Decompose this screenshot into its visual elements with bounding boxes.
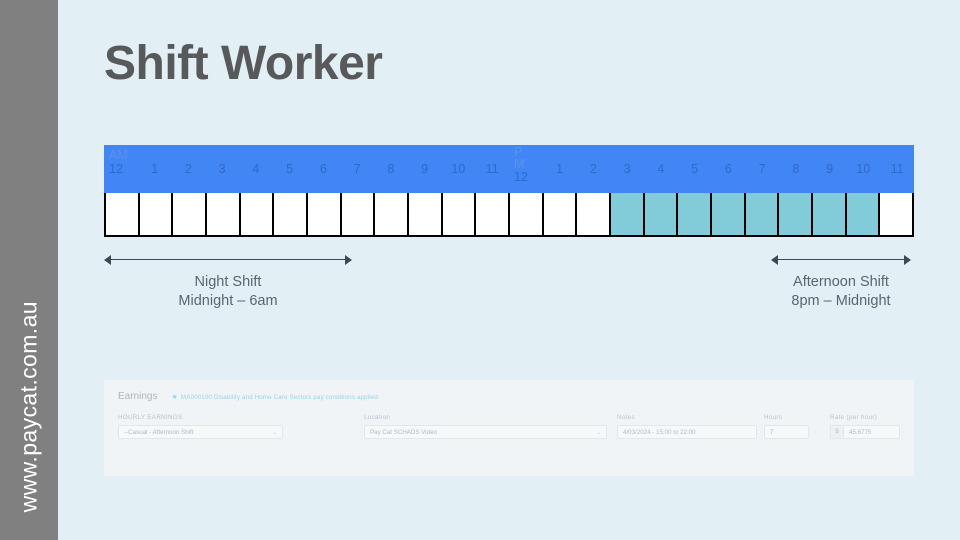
hour-cell-11: [476, 193, 510, 235]
hour-cell-21: [813, 193, 847, 235]
hour-cell-9: [409, 193, 443, 235]
field-hours: Hours 7: [764, 414, 809, 439]
location-label: Location: [364, 414, 607, 421]
hour-cell-14: [577, 193, 611, 235]
earnings-section-title: Earnings: [118, 391, 157, 402]
hour-label-15: 3: [610, 145, 644, 193]
hour-label-14: 2: [577, 145, 611, 193]
earnings-header: Earnings ★MA000100 Disability and Home C…: [118, 391, 378, 402]
hour-label-5: 5: [273, 145, 307, 193]
annotation-night-shift: Night Shift Midnight – 6am: [104, 255, 352, 311]
rate-value: 45.6775: [849, 429, 871, 436]
hour-number: 1: [543, 162, 577, 176]
currency-icon: $: [830, 425, 843, 439]
hours-label: Hours: [764, 414, 809, 421]
hour-number: 4: [644, 162, 678, 176]
hour-label-2: 2: [172, 145, 206, 193]
hour-cell-18: [712, 193, 746, 235]
hour-number: 5: [678, 162, 712, 176]
hours-value: 7: [770, 429, 773, 436]
hours-input[interactable]: 7: [764, 425, 809, 439]
field-rate: Rate (per hour) $ 45.6775: [830, 414, 900, 439]
slide-content: Shift Worker AM121234567891011P M1212345…: [58, 0, 960, 540]
afternoon-shift-title: Afternoon Shift: [771, 273, 911, 292]
hour-cell-19: [746, 193, 780, 235]
hour-cell-13: [544, 193, 578, 235]
hour-label-0: AM12: [104, 145, 138, 193]
hour-label-20: 8: [779, 145, 813, 193]
hour-label-7: 7: [340, 145, 374, 193]
hour-label-6: 6: [307, 145, 341, 193]
hour-number: 4: [239, 162, 273, 176]
arrow-head-right-icon: [345, 255, 352, 265]
hour-label-13: 1: [543, 145, 577, 193]
award-note: ★MA000100 Disability and Home Care Secto…: [171, 393, 377, 401]
hour-number: 11: [475, 162, 509, 176]
hour-cell-0: [106, 193, 140, 235]
page-title: Shift Worker: [104, 36, 382, 91]
hour-number: 3: [610, 162, 644, 176]
hour-cell-7: [342, 193, 376, 235]
star-icon: ★: [171, 394, 177, 401]
chevron-down-icon: ⌄: [592, 429, 601, 436]
hour-cells-row: [104, 193, 914, 237]
hour-cell-2: [173, 193, 207, 235]
hour-number: 12: [109, 162, 123, 176]
night-shift-arrow: [104, 255, 352, 265]
hour-cell-17: [678, 193, 712, 235]
hour-number: 7: [340, 162, 374, 176]
arrow-bar: [776, 259, 906, 260]
hour-cell-15: [611, 193, 645, 235]
hour-cell-23: [880, 193, 912, 235]
rate-input-group: $ 45.6775: [830, 425, 900, 439]
night-shift-title: Night Shift: [104, 273, 352, 292]
hour-number: 6: [712, 162, 746, 176]
hourly-earnings-select[interactable]: --Casual - Afternoon Shift ⌄: [118, 425, 283, 439]
hour-label-9: 9: [408, 145, 442, 193]
hour-cell-22: [847, 193, 881, 235]
hour-label-17: 5: [678, 145, 712, 193]
hour-number: 12: [514, 170, 528, 184]
hour-number: 10: [847, 162, 881, 176]
earnings-form-panel: Earnings ★MA000100 Disability and Home C…: [104, 380, 914, 476]
hour-label-18: 6: [712, 145, 746, 193]
location-select[interactable]: Pay Cat SCHADS Video ⌄: [364, 425, 607, 439]
hour-number: 9: [813, 162, 847, 176]
hour-number: 8: [374, 162, 408, 176]
location-value: Pay Cat SCHADS Video: [370, 429, 437, 436]
night-shift-range: Midnight – 6am: [104, 292, 352, 311]
hour-number: 11: [880, 162, 914, 176]
hour-number: 6: [307, 162, 341, 176]
hourly-earnings-value: --Casual - Afternoon Shift: [124, 429, 193, 436]
arrow-bar: [109, 259, 347, 260]
hour-label-23: 11: [880, 145, 914, 193]
hour-number: 9: [408, 162, 442, 176]
notes-label: Notes: [617, 414, 757, 421]
meridiem-label: P M: [514, 146, 524, 170]
hour-cell-6: [308, 193, 342, 235]
hour-cell-5: [274, 193, 308, 235]
hour-cell-8: [375, 193, 409, 235]
notes-value: 4/03/2024 - 15:00 to 22:00: [623, 429, 696, 436]
hour-label-11: 11: [475, 145, 509, 193]
hour-label-3: 3: [205, 145, 239, 193]
notes-input[interactable]: 4/03/2024 - 15:00 to 22:00: [617, 425, 757, 439]
field-location: Location Pay Cat SCHADS Video ⌄: [364, 414, 607, 439]
hour-number: 2: [172, 162, 206, 176]
hour-cell-1: [140, 193, 174, 235]
website-url: www.paycat.com.au: [16, 301, 43, 512]
hour-header-row: AM121234567891011P M121234567891011: [104, 145, 914, 193]
hour-cell-20: [779, 193, 813, 235]
hour-cell-10: [443, 193, 477, 235]
field-hourly-earnings: HOURLY EARNINGS --Casual - Afternoon Shi…: [118, 414, 283, 439]
hour-label-22: 10: [847, 145, 881, 193]
hour-cell-3: [207, 193, 241, 235]
hour-cell-12: [510, 193, 544, 235]
hour-label-1: 1: [138, 145, 172, 193]
hour-number: 3: [205, 162, 239, 176]
field-notes: Notes 4/03/2024 - 15:00 to 22:00: [617, 414, 757, 439]
hour-label-19: 7: [745, 145, 779, 193]
meridiem-label: AM: [109, 148, 128, 162]
hour-number: 10: [442, 162, 476, 176]
hour-cell-4: [241, 193, 275, 235]
hour-label-10: 10: [442, 145, 476, 193]
hour-number: 2: [577, 162, 611, 176]
rate-label: Rate (per hour): [830, 414, 900, 421]
annotation-afternoon-shift: Afternoon Shift 8pm – Midnight: [771, 255, 911, 311]
hour-number: 8: [779, 162, 813, 176]
chevron-down-icon: ⌄: [268, 429, 277, 436]
hourly-earnings-label: HOURLY EARNINGS: [118, 414, 283, 421]
shift-timeline: AM121234567891011P M121234567891011: [104, 145, 914, 237]
hour-number: 1: [138, 162, 172, 176]
award-note-text: MA000100 Disability and Home Care Sector…: [181, 394, 378, 401]
hour-label-16: 4: [644, 145, 678, 193]
rate-input[interactable]: 45.6775: [843, 425, 900, 439]
arrow-head-right-icon: [904, 255, 911, 265]
afternoon-shift-arrow: [771, 255, 911, 265]
brand-sidebar: www.paycat.com.au: [0, 0, 58, 540]
hour-label-8: 8: [374, 145, 408, 193]
hour-label-12: P M12: [509, 145, 543, 193]
hour-cell-16: [645, 193, 679, 235]
afternoon-shift-range: 8pm – Midnight: [771, 292, 911, 311]
hour-number: 7: [745, 162, 779, 176]
hour-number: 5: [273, 162, 307, 176]
hour-label-21: 9: [813, 145, 847, 193]
hour-label-4: 4: [239, 145, 273, 193]
